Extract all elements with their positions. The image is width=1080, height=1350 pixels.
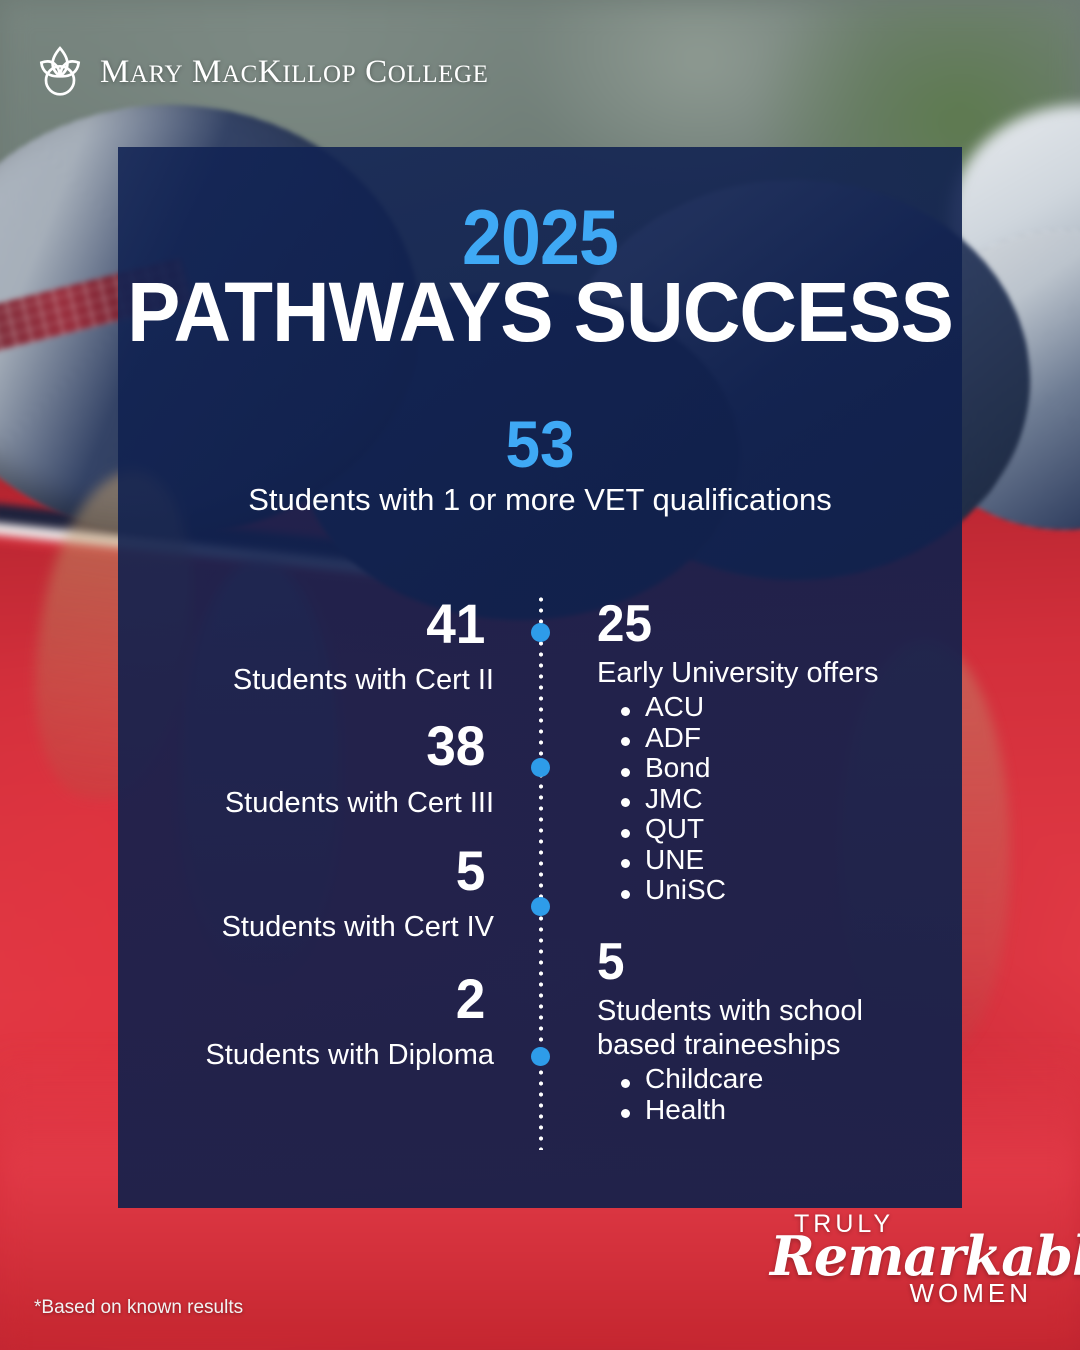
hero-stat-label: Students with 1 or more VET qualificatio… <box>0 481 1080 518</box>
stat-label: Early University offers <box>597 656 927 690</box>
list-item: JMC <box>597 784 927 815</box>
truly-remarkable-women-logo: TRULY Remarkable WOMEN <box>770 1210 1032 1308</box>
timeline-marker-3 <box>531 897 550 916</box>
timeline-marker-1 <box>531 623 550 642</box>
list-item: UNE <box>597 845 927 876</box>
stat-number: 5 <box>159 842 486 899</box>
stat-label: Students with Cert II <box>150 664 494 697</box>
traineeship-list: Childcare Health <box>597 1064 927 1125</box>
page-title: PATHWAYS SUCCESS <box>27 270 1053 354</box>
list-item: Childcare <box>597 1064 927 1095</box>
hero-stat-number: 53 <box>32 411 1047 477</box>
timeline-dotted-divider <box>538 594 544 1150</box>
footnote: *Based on known results <box>34 1297 243 1319</box>
stat-number: 41 <box>159 595 486 652</box>
list-item: Health <box>597 1095 927 1126</box>
triquetra-icon <box>34 44 86 100</box>
university-list: ACU ADF Bond JMC QUT UNE UniSC <box>597 692 927 906</box>
list-item: QUT <box>597 814 927 845</box>
timeline-marker-4 <box>531 1047 550 1066</box>
stat-cert-ii: 41 Students with Cert II <box>150 595 494 697</box>
stat-cert-iii: 38 Students with Cert III <box>150 717 494 819</box>
pathways-offers-column: 25 Early University offers ACU ADF Bond … <box>597 598 927 1125</box>
stat-label: Students with Cert IV <box>150 911 494 944</box>
stat-number: 2 <box>159 970 486 1027</box>
list-item: Bond <box>597 753 927 784</box>
vet-qualifications-column: 41 Students with Cert II 38 Students wit… <box>150 595 494 1093</box>
stat-cert-iv: 5 Students with Cert IV <box>150 842 494 944</box>
stat-diploma: 2 Students with Diploma <box>150 970 494 1072</box>
list-item: ACU <box>597 692 927 723</box>
list-item: UniSC <box>597 875 927 906</box>
stat-early-university-offers: 25 Early University offers ACU ADF Bond … <box>597 598 927 906</box>
poster: MARY MACKILLOP COLLEGE 2025 PATHWAYS SUC… <box>0 0 1080 1350</box>
stat-number: 5 <box>597 936 911 988</box>
college-logo: MARY MACKILLOP COLLEGE <box>34 44 489 100</box>
stat-label: Students with school based traineeships <box>597 994 927 1062</box>
stat-number: 25 <box>597 598 911 650</box>
tagline-bottom: WOMEN <box>909 1278 1032 1309</box>
stat-number: 38 <box>159 717 486 774</box>
list-item: ADF <box>597 723 927 754</box>
stat-label: Students with Cert III <box>150 787 494 820</box>
stat-label: Students with Diploma <box>150 1039 494 1072</box>
timeline-marker-2 <box>531 758 550 777</box>
stat-school-based-traineeships: 5 Students with school based traineeship… <box>597 936 927 1125</box>
college-name: MARY MACKILLOP COLLEGE <box>100 54 489 91</box>
